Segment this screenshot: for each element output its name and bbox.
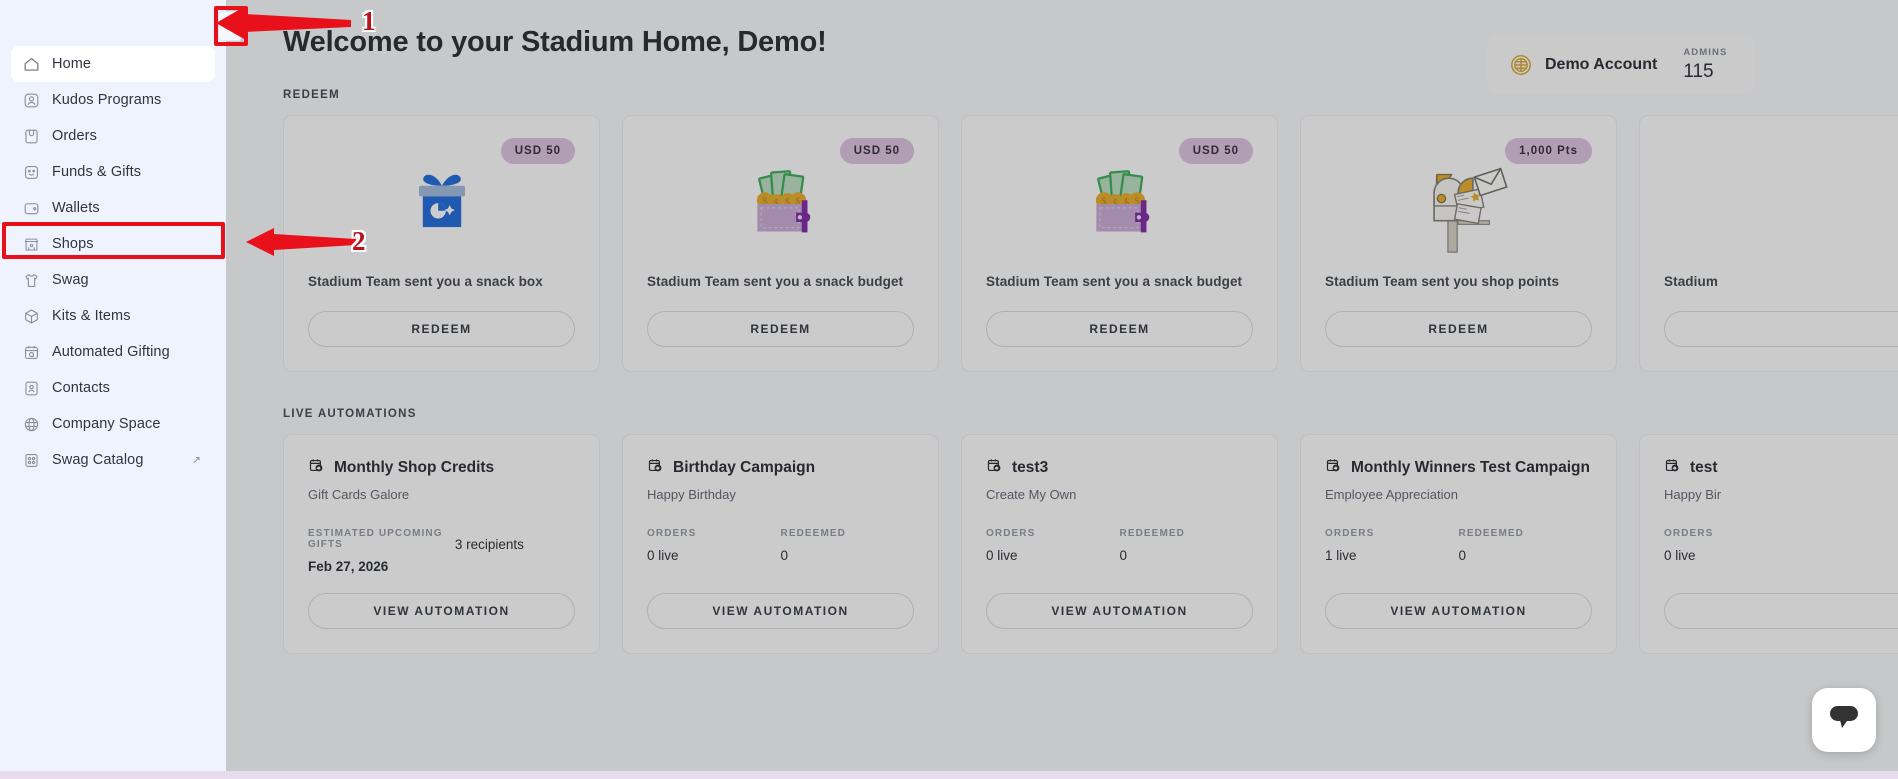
automation-card-header: test xyxy=(1664,457,1898,479)
sidebar-item-label: Contacts xyxy=(52,380,110,396)
automation-card-stats: ORDERS 1 live REDEEMED 0 xyxy=(1325,528,1592,563)
redeem-card-title: Stadium Team sent you a snack budget xyxy=(986,274,1253,289)
wallet-icon xyxy=(21,198,41,218)
redeem-card[interactable]: USD 50 $ xyxy=(622,115,939,372)
bottom-strip xyxy=(0,771,1898,779)
automation-card-subtitle: Create My Own xyxy=(986,487,1253,502)
account-metric-label: ADMINS xyxy=(1683,48,1727,59)
automation-stat: ORDERS 0 live xyxy=(986,528,1120,563)
calendar-repeat-icon xyxy=(308,457,325,479)
automation-card[interactable]: test3 Create My Own ORDERS 0 live REDEEM… xyxy=(961,434,1278,654)
app-root: Home Kudos Programs Orders Funds & Gifts xyxy=(0,0,1898,779)
sidebar-item-label: Automated Gifting xyxy=(52,344,170,360)
redeem-card[interactable]: Stadium xyxy=(1639,115,1898,372)
sidebar-item-orders[interactable]: Orders xyxy=(11,118,215,154)
redeem-button[interactable]: REDEEM xyxy=(308,311,575,347)
redeem-card-title: Stadium Team sent you shop points xyxy=(1325,274,1592,289)
globe-icon xyxy=(21,414,41,434)
redeem-button[interactable] xyxy=(1664,311,1898,347)
shop-icon xyxy=(21,234,41,254)
automation-stat: REDEEMED 0 xyxy=(1459,528,1593,563)
contacts-icon xyxy=(21,378,41,398)
automation-stat-label: ORDERS xyxy=(647,528,781,539)
sidebar-item-label: Swag Catalog xyxy=(52,452,143,468)
redeem-card-title: Stadium Team sent you a snack box xyxy=(308,274,575,289)
automation-stat-label: ORDERS xyxy=(1325,528,1459,539)
automation-card-title: Birthday Campaign xyxy=(673,459,815,477)
automation-card-subtitle: Employee Appreciation xyxy=(1325,487,1592,502)
redeem-card-pill: USD 50 xyxy=(1179,138,1253,164)
account-name: Demo Account xyxy=(1545,56,1657,74)
funds-gifts-icon xyxy=(21,162,41,182)
automation-card-title: Monthly Winners Test Campaign xyxy=(1351,459,1590,477)
redeem-card-title: Stadium xyxy=(1664,274,1898,289)
sidebar-item-contacts[interactable]: Contacts xyxy=(11,370,215,406)
automation-stat-value: 0 xyxy=(1459,548,1593,563)
chat-bubble-icon xyxy=(1827,703,1861,738)
automation-stat: 3 recipients xyxy=(455,528,589,574)
automation-stat-label: REDEEMED xyxy=(1120,528,1254,539)
redeem-button[interactable]: REDEEM xyxy=(647,311,914,347)
sidebar-item-automated-gifting[interactable]: Automated Gifting xyxy=(11,334,215,370)
automation-card-stats: ORDERS 0 live xyxy=(1664,528,1898,563)
redeem-card-row: USD 50 Stadium Team sent you a snack xyxy=(283,115,1898,372)
account-badge[interactable]: Demo Account ADMINS 115 xyxy=(1487,36,1755,94)
automation-stat-value: 0 xyxy=(1120,548,1254,563)
automation-card-header: Birthday Campaign xyxy=(647,457,914,479)
kudos-icon xyxy=(21,90,41,110)
calendar-repeat-icon xyxy=(986,457,1003,479)
chat-launcher-button[interactable] xyxy=(1812,688,1876,752)
sidebar-item-label: Home xyxy=(52,56,91,72)
automation-card-stats: ORDERS 0 live REDEEMED 0 xyxy=(647,528,914,563)
automation-card-header: Monthly Winners Test Campaign xyxy=(1325,457,1592,479)
automation-stat-label: REDEEMED xyxy=(781,528,915,539)
automation-stat: ORDERS 0 live xyxy=(1664,528,1798,563)
sidebar-item-swag[interactable]: Swag xyxy=(11,262,215,298)
automation-card-header: Monthly Shop Credits xyxy=(308,457,575,479)
automation-stat-value: 1 live xyxy=(1325,548,1459,563)
automation-stat-value: 0 live xyxy=(986,548,1120,563)
coin-icon xyxy=(1509,53,1533,77)
sidebar-item-label: Kits & Items xyxy=(52,308,131,324)
automation-card[interactable]: Monthly Winners Test Campaign Employee A… xyxy=(1300,434,1617,654)
sidebar-item-label: Kudos Programs xyxy=(52,92,161,108)
orders-icon xyxy=(21,126,41,146)
sidebar-item-wallets[interactable]: Wallets xyxy=(11,190,215,226)
automation-card[interactable]: Monthly Shop Credits Gift Cards Galore E… xyxy=(283,434,600,654)
redeem-card-title: Stadium Team sent you a snack budget xyxy=(647,274,914,289)
sidebar-item-shops[interactable]: Shops xyxy=(11,226,215,262)
automation-card[interactable]: test Happy Bir ORDERS 0 live xyxy=(1639,434,1898,654)
live-automations-section-label: LIVE AUTOMATIONS xyxy=(283,408,1898,420)
sidebar-item-label: Swag xyxy=(52,272,89,288)
automation-card-title: test3 xyxy=(1012,459,1048,477)
automation-stat-label: ORDERS xyxy=(986,528,1120,539)
automation-stat: ORDERS 1 live xyxy=(1325,528,1459,563)
sidebar-item-label: Shops xyxy=(52,236,94,252)
redeem-card-pill: USD 50 xyxy=(501,138,575,164)
catalog-grid-icon xyxy=(21,450,41,470)
sidebar-item-home[interactable]: Home xyxy=(11,46,215,82)
sidebar-item-swag-catalog[interactable]: Swag Catalog ↗ xyxy=(11,442,215,478)
view-automation-button[interactable]: VIEW AUTOMATION xyxy=(647,593,914,629)
box-icon xyxy=(21,306,41,326)
redeem-button[interactable]: REDEEM xyxy=(986,311,1253,347)
view-automation-button[interactable]: VIEW AUTOMATION xyxy=(986,593,1253,629)
automation-card-stats: ESTIMATED UPCOMING GIFTS Feb 27, 2026 3 … xyxy=(308,528,575,574)
automation-stat-value: Feb 27, 2026 xyxy=(308,559,455,574)
tshirt-icon xyxy=(21,270,41,290)
external-link-icon: ↗ xyxy=(192,454,201,467)
calendar-repeat-icon xyxy=(647,457,664,479)
sidebar-item-funds-gifts[interactable]: Funds & Gifts xyxy=(11,154,215,190)
sidebar-item-kudos-programs[interactable]: Kudos Programs xyxy=(11,82,215,118)
automation-stat: ESTIMATED UPCOMING GIFTS Feb 27, 2026 xyxy=(308,528,455,574)
automation-stat-value: 0 live xyxy=(647,548,781,563)
card-art-placeholder xyxy=(1664,144,1898,266)
sidebar-item-label: Funds & Gifts xyxy=(52,164,141,180)
automation-card-title: Monthly Shop Credits xyxy=(334,459,494,477)
automation-card-stats: ORDERS 0 live REDEEMED 0 xyxy=(986,528,1253,563)
automation-card-subtitle: Happy Birthday xyxy=(647,487,914,502)
automation-stat: REDEEMED 0 xyxy=(1120,528,1254,563)
account-metric: ADMINS 115 xyxy=(1683,48,1727,83)
calendar-repeat-icon xyxy=(1325,457,1342,479)
automation-stat: ORDERS 0 live xyxy=(647,528,781,563)
automation-stat-value: 3 recipients xyxy=(455,537,589,552)
automation-card-header: test3 xyxy=(986,457,1253,479)
main-inner: Welcome to your Stadium Home, Demo! REDE… xyxy=(226,0,1898,654)
sidebar-item-company-space[interactable]: Company Space xyxy=(11,406,215,442)
sidebar-collapse-button[interactable]: ‹ xyxy=(218,11,242,41)
live-automations-card-row: Monthly Shop Credits Gift Cards Galore E… xyxy=(283,434,1898,654)
automation-card-title: test xyxy=(1690,459,1718,477)
redeem-card[interactable]: USD 50 $ xyxy=(961,115,1278,372)
automation-card-subtitle: Gift Cards Galore xyxy=(308,487,575,502)
sidebar-item-label: Wallets xyxy=(52,200,100,216)
automation-stat-label: ORDERS xyxy=(1664,528,1798,539)
redeem-card[interactable]: 1,000 Pts xyxy=(1300,115,1617,372)
view-automation-button[interactable] xyxy=(1664,593,1898,629)
account-identity: Demo Account xyxy=(1509,53,1657,77)
sidebar-item-label: Orders xyxy=(52,128,97,144)
view-automation-button[interactable]: VIEW AUTOMATION xyxy=(1325,593,1592,629)
account-metric-value: 115 xyxy=(1683,61,1727,83)
sidebar: Home Kudos Programs Orders Funds & Gifts xyxy=(0,0,226,771)
redeem-card[interactable]: USD 50 Stadium Team sent you a snack xyxy=(283,115,600,372)
automation-stat-value: 0 live xyxy=(1664,548,1798,563)
automation-card[interactable]: Birthday Campaign Happy Birthday ORDERS … xyxy=(622,434,939,654)
redeem-card-pill: 1,000 Pts xyxy=(1505,138,1592,164)
home-icon xyxy=(21,54,41,74)
automation-stat-label: REDEEMED xyxy=(1459,528,1593,539)
automation-stat-value: 0 xyxy=(781,548,915,563)
automation-stat: REDEEMED 0 xyxy=(781,528,915,563)
sidebar-item-label: Company Space xyxy=(52,416,161,432)
redeem-card-pill: USD 50 xyxy=(840,138,914,164)
view-automation-button[interactable]: VIEW AUTOMATION xyxy=(308,593,575,629)
calendar-repeat-icon xyxy=(1664,457,1681,479)
automation-card-subtitle: Happy Bir xyxy=(1664,487,1898,502)
calendar-repeat-icon xyxy=(21,342,41,362)
sidebar-nav-list: Home Kudos Programs Orders Funds & Gifts xyxy=(0,46,226,478)
redeem-button[interactable]: REDEEM xyxy=(1325,311,1592,347)
automation-stat-label: ESTIMATED UPCOMING GIFTS xyxy=(308,528,455,550)
main-content: Welcome to your Stadium Home, Demo! REDE… xyxy=(226,0,1898,771)
sidebar-item-kits-items[interactable]: Kits & Items xyxy=(11,298,215,334)
